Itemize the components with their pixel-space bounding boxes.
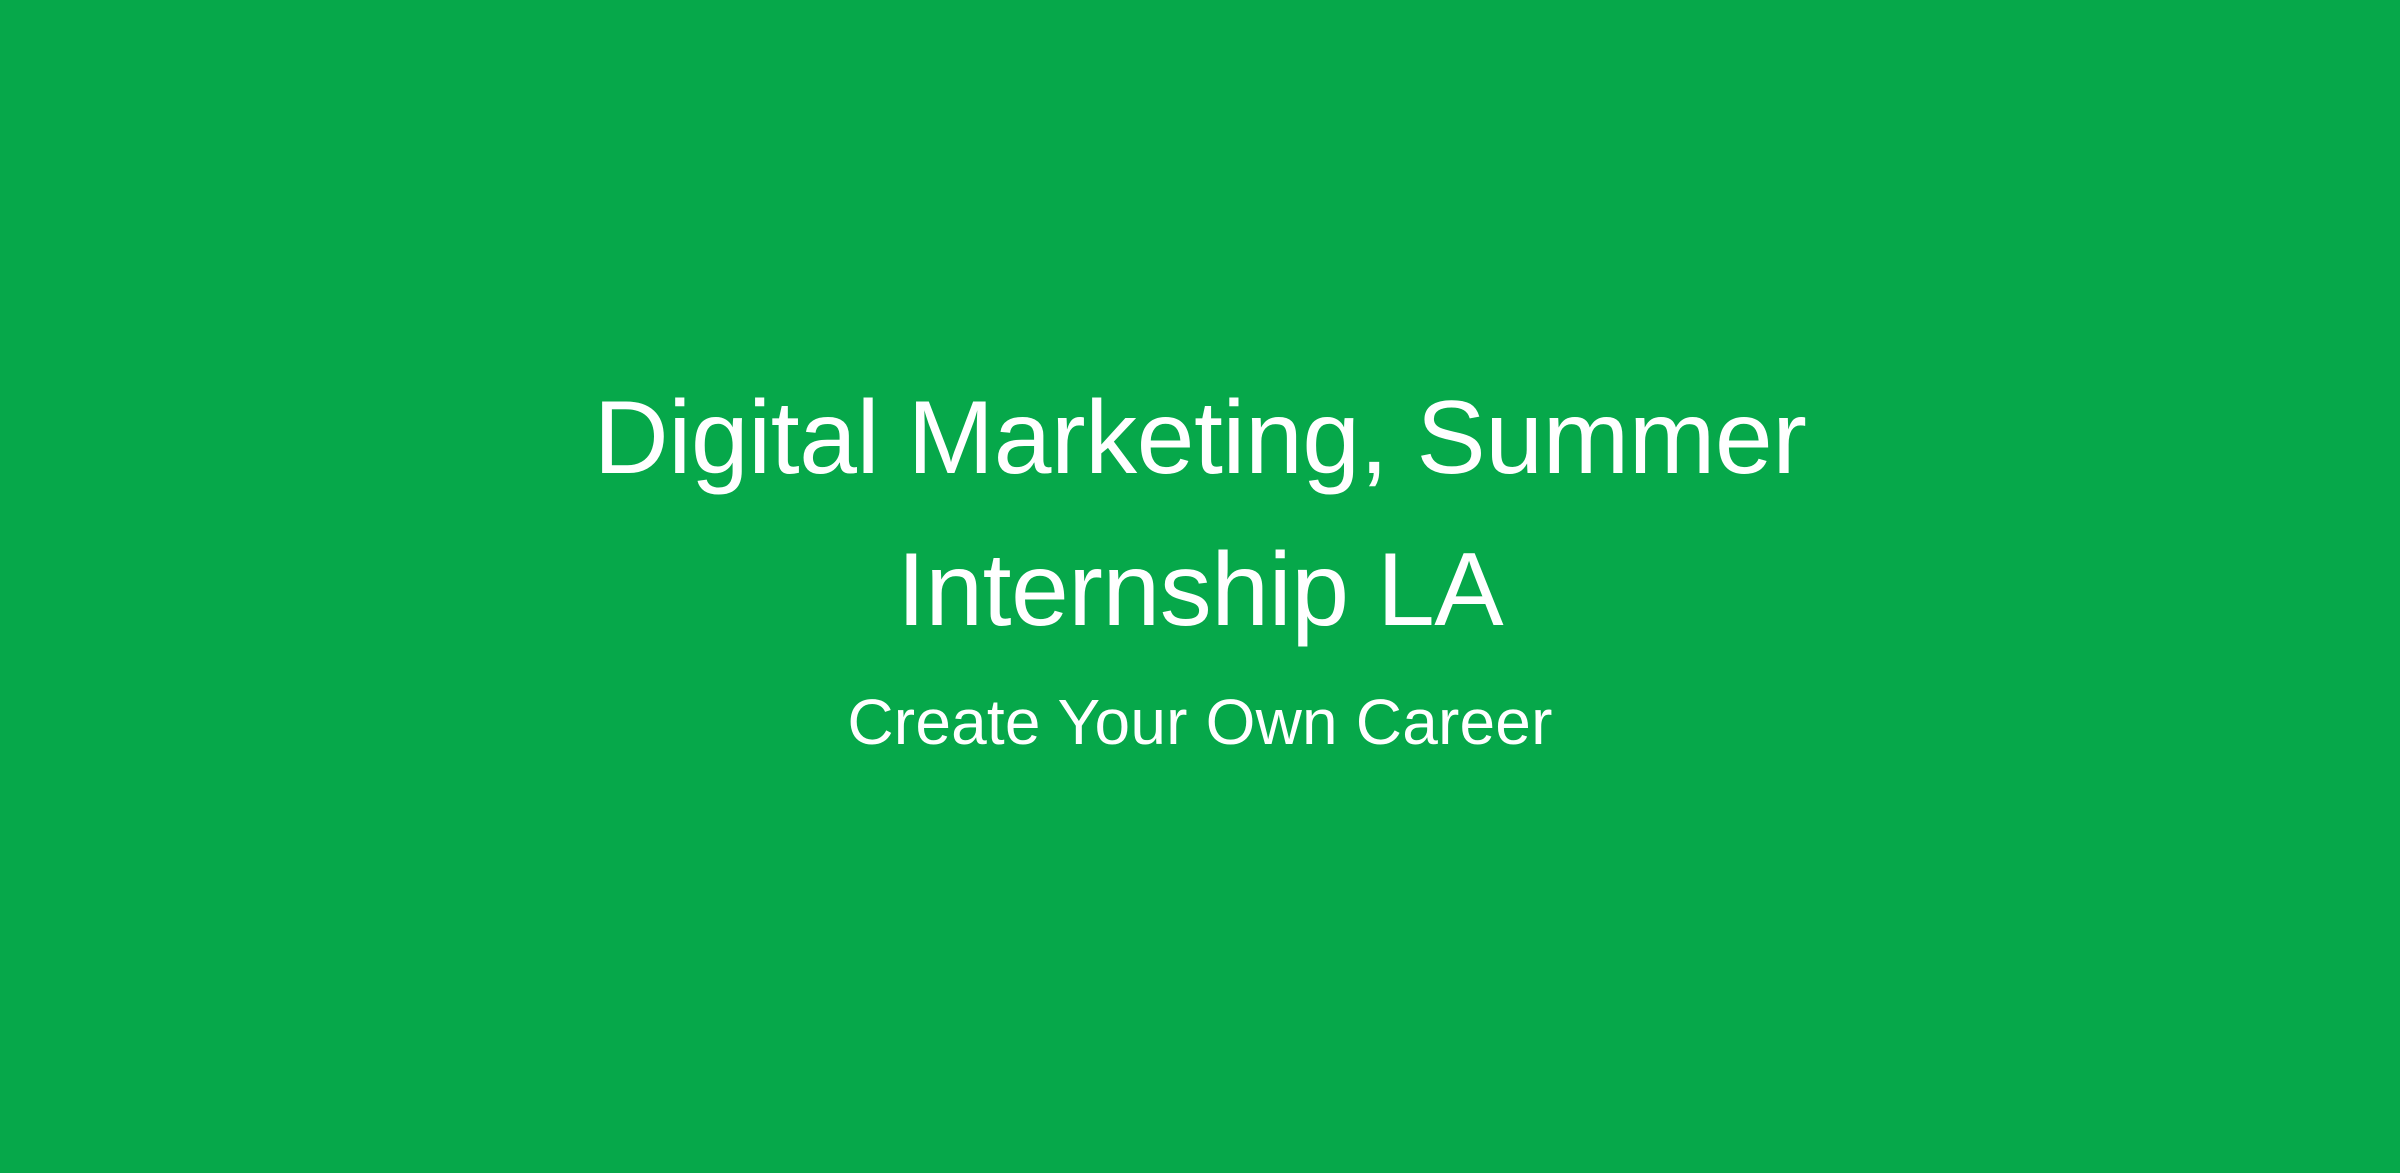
- page-subtitle: Create Your Own Career: [847, 680, 1552, 764]
- hero-text-block: Digital Marketing, Summer Internship LA …: [300, 362, 2100, 764]
- page-title: Digital Marketing, Summer Internship LA: [370, 362, 2030, 666]
- hero-banner: Digital Marketing, Summer Internship LA …: [0, 0, 2400, 1173]
